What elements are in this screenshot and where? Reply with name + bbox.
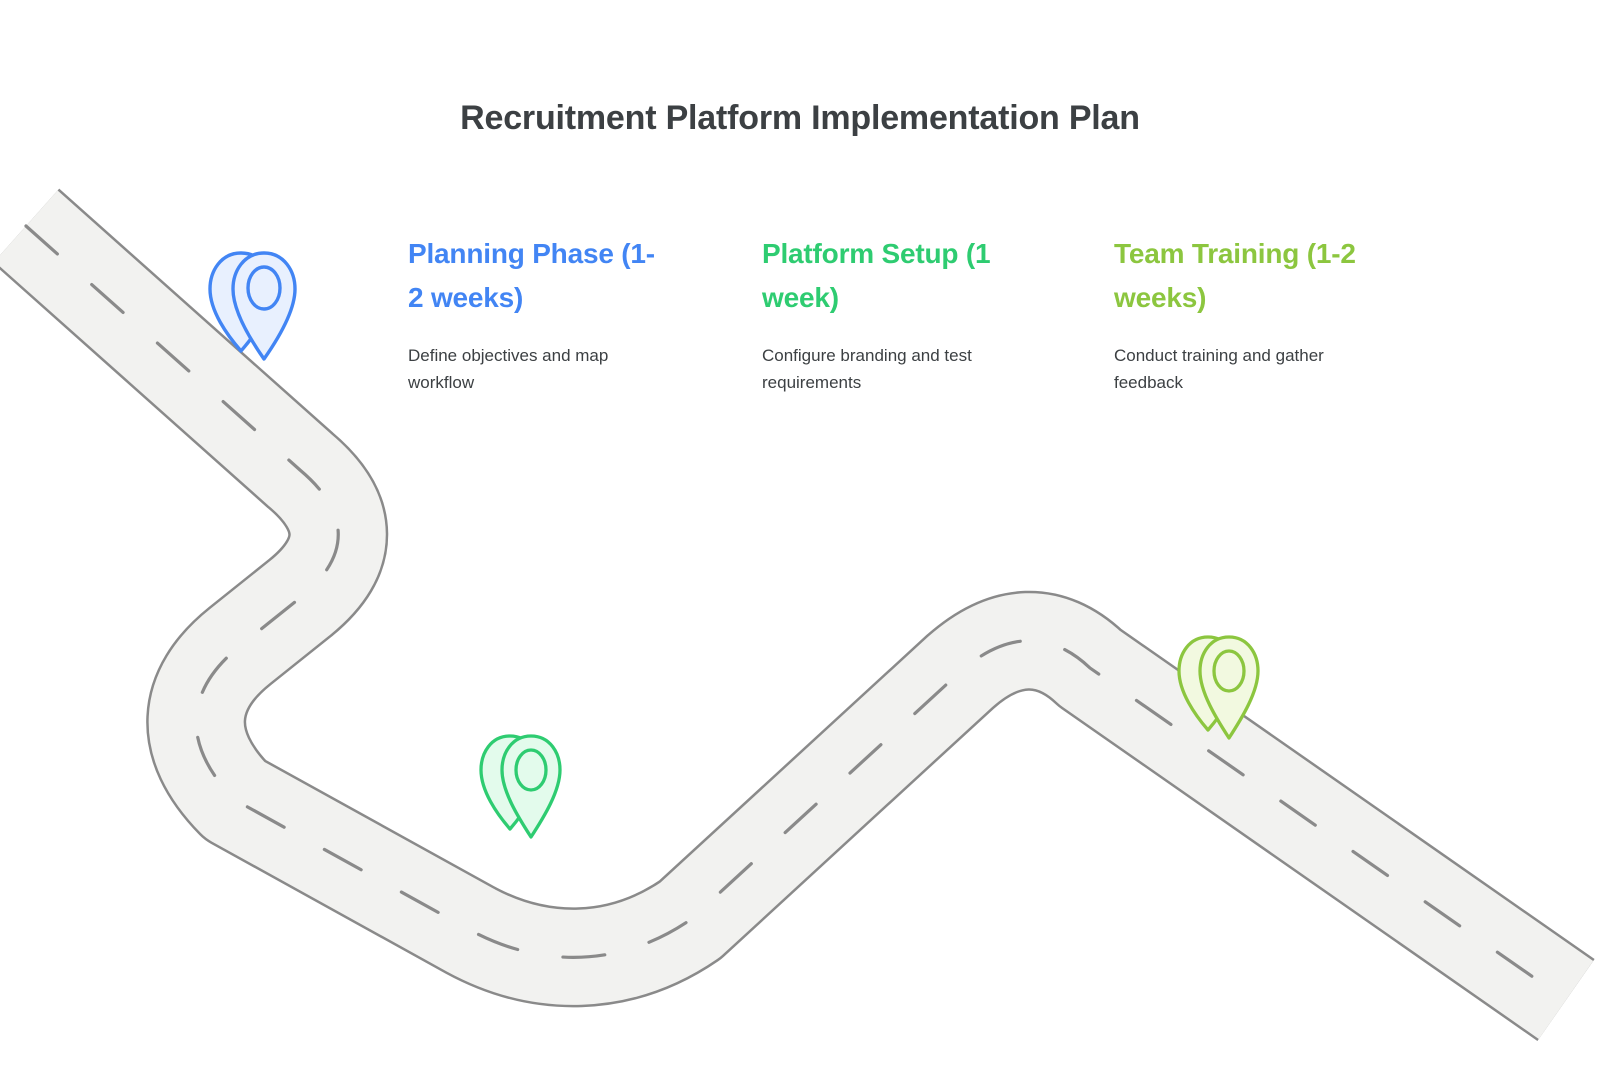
pin-hole-icon	[516, 750, 546, 790]
pin-hole-icon	[1214, 651, 1244, 691]
step-description-2: Configure branding and test requirements	[762, 343, 1024, 396]
step-heading-3: Team Training (1-2 weeks)	[1114, 232, 1376, 319]
map-pin-marker-planning[interactable]	[207, 247, 307, 373]
roadmap-infographic: Recruitment Platform Implementation Plan…	[0, 0, 1600, 1067]
pin-hole-icon	[248, 267, 280, 309]
map-pin-marker-platform-setup[interactable]	[478, 731, 572, 851]
road-illustration	[0, 0, 1600, 1067]
step-column-3: Team Training (1-2 weeks) Conduct traini…	[1114, 232, 1376, 396]
step-heading-1: Planning Phase (1-2 weeks)	[408, 232, 670, 319]
step-heading-2: Platform Setup (1 week)	[762, 232, 1024, 319]
map-pin-marker-team-training[interactable]	[1176, 632, 1270, 752]
step-description-3: Conduct training and gather feedback	[1114, 343, 1376, 396]
step-column-2: Platform Setup (1 week) Configure brandi…	[762, 232, 1024, 396]
step-description-1: Define objectives and map workflow	[408, 343, 670, 396]
step-column-1: Planning Phase (1-2 weeks) Define object…	[408, 232, 670, 396]
page-title: Recruitment Platform Implementation Plan	[0, 99, 1600, 138]
